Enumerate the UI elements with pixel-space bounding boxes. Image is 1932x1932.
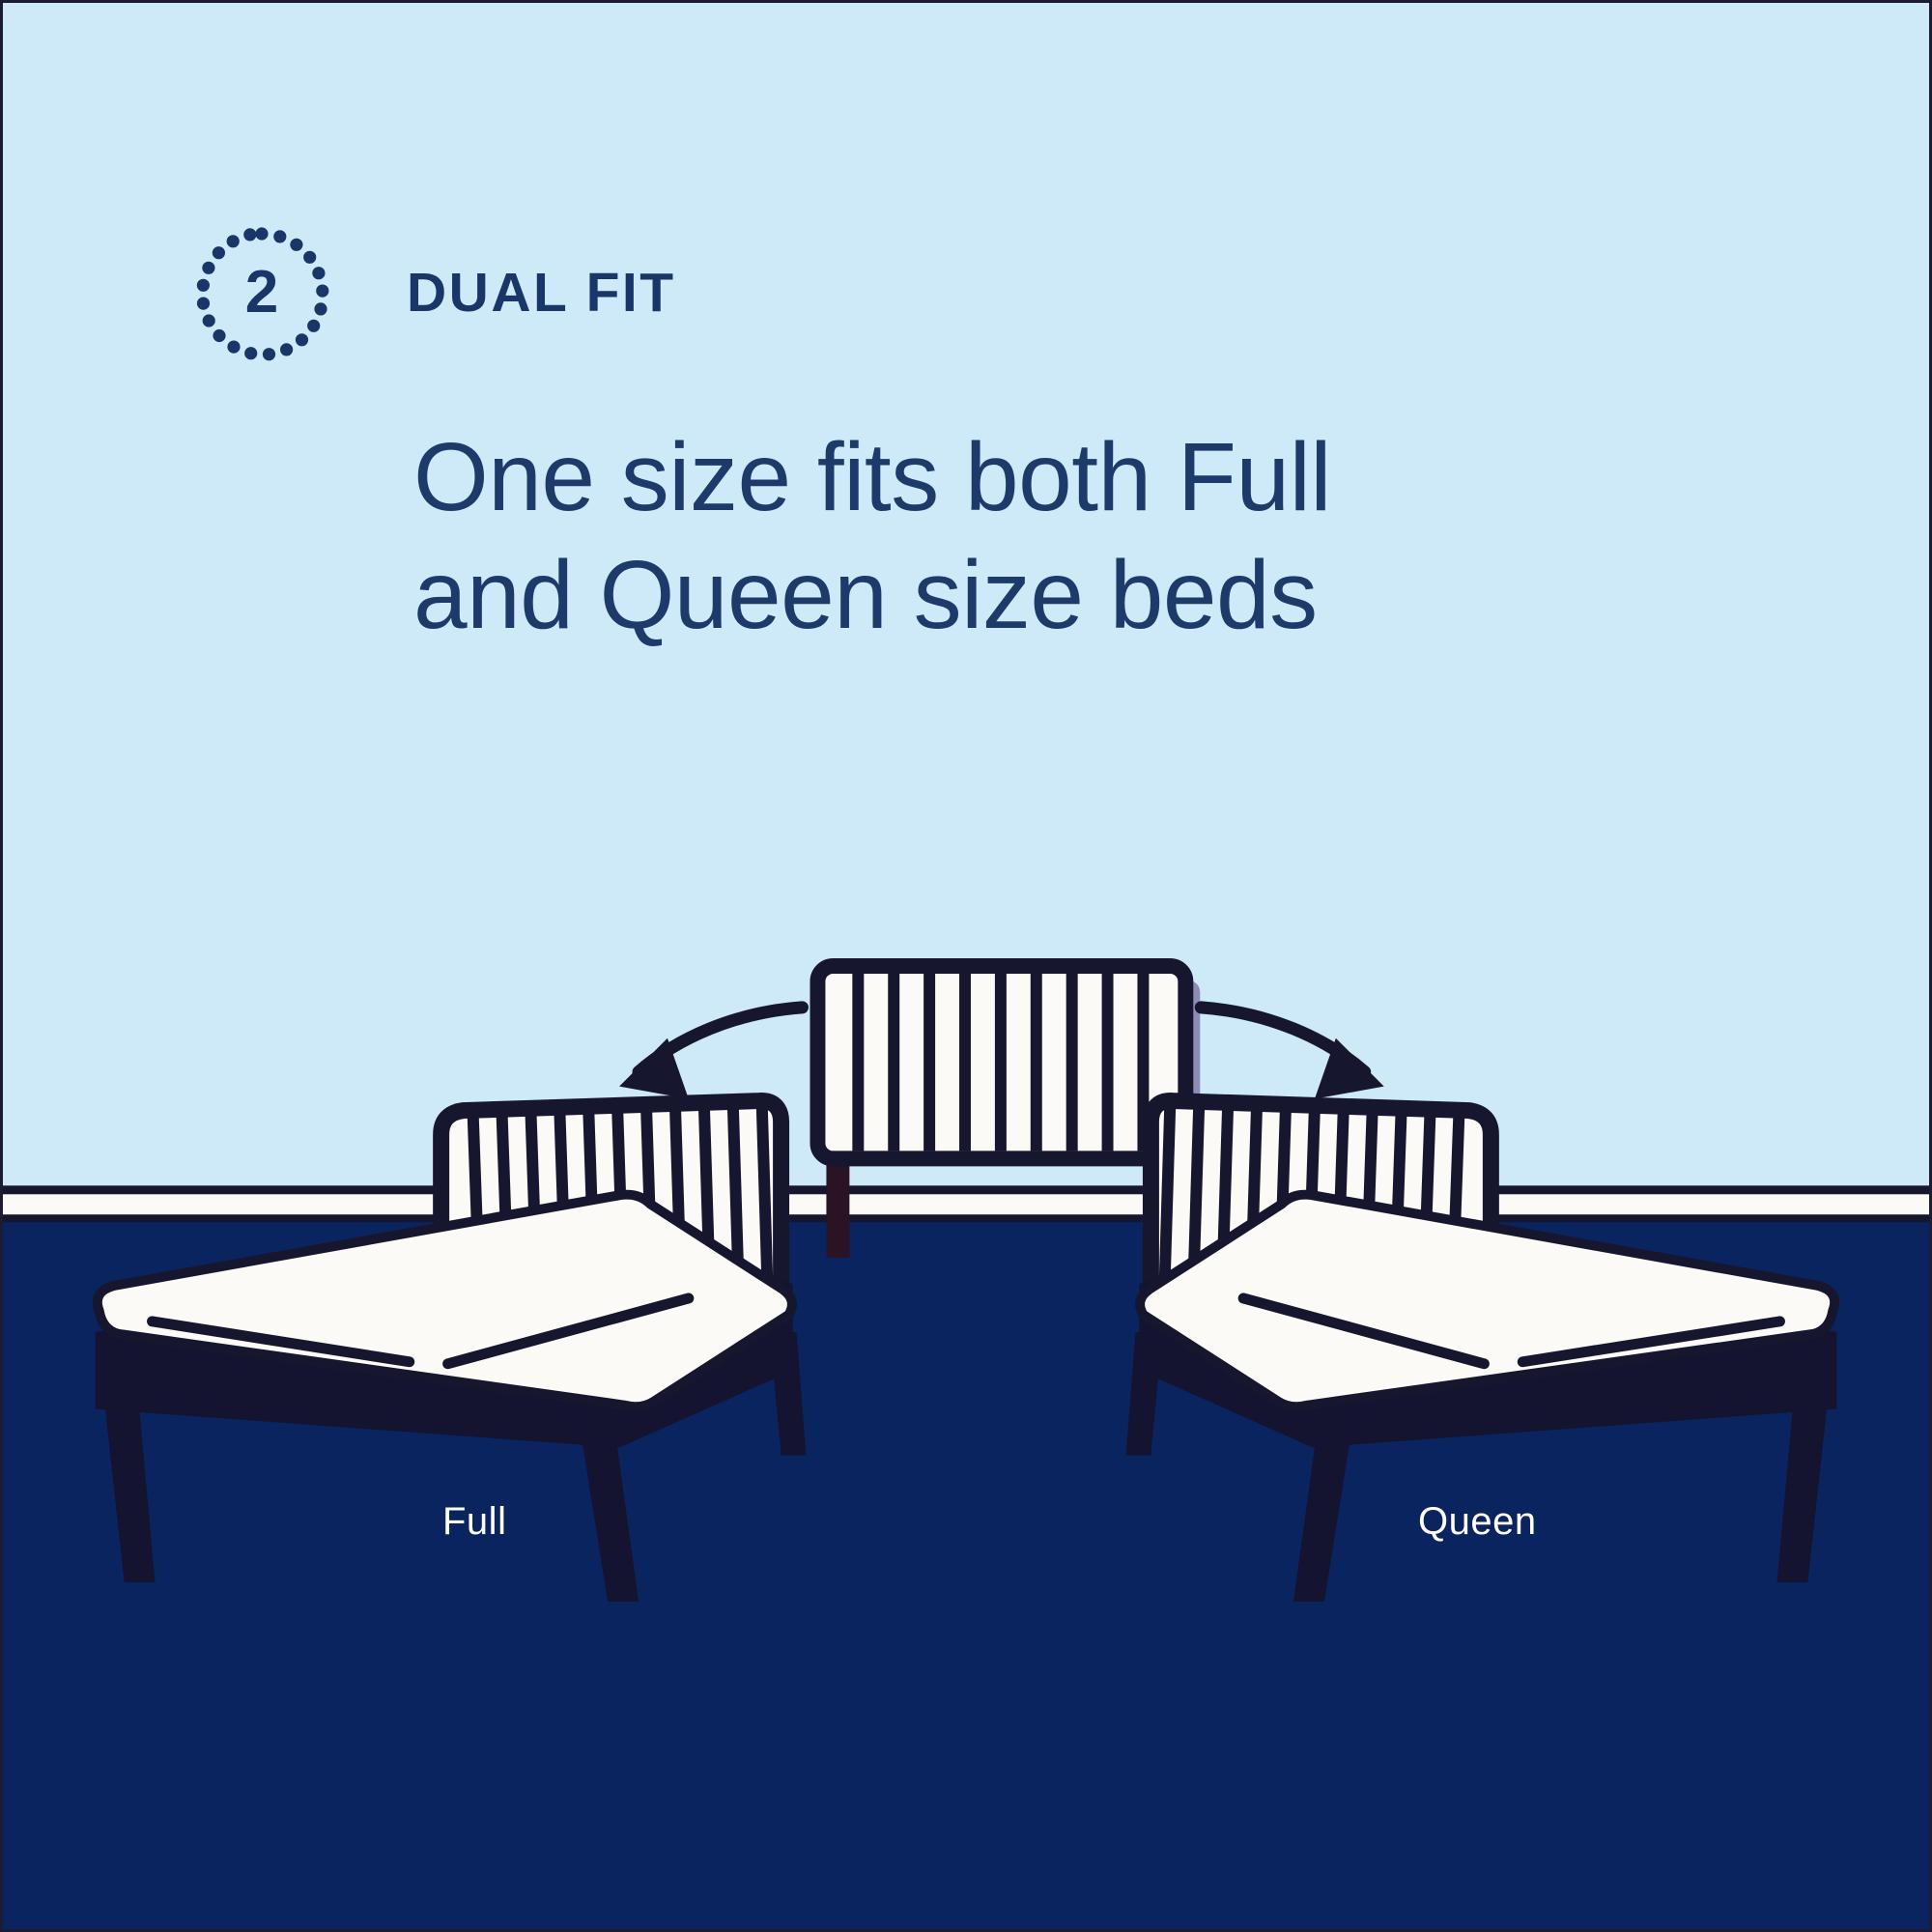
headline-line-2: and Queen size beds <box>413 536 1669 654</box>
full-bed-label: Full <box>442 1500 506 1544</box>
baseboard-top-line <box>3 1185 1929 1194</box>
headline-line-1: One size fits both Full <box>413 418 1669 536</box>
section-eyebrow-label: DUAL FIT <box>407 266 676 321</box>
dotted-circle-badge: 2 <box>192 223 331 362</box>
baseboard-bottom-line <box>3 1214 1929 1223</box>
badge-number: 2 <box>245 263 278 323</box>
infographic-canvas: 2 DUAL FIT One size fits both Full and Q… <box>0 0 1932 1932</box>
page-headline: One size fits both Full and Queen size b… <box>413 418 1669 654</box>
section-header: 2 DUAL FIT <box>192 223 676 362</box>
queen-bed-label: Queen <box>1418 1500 1537 1544</box>
